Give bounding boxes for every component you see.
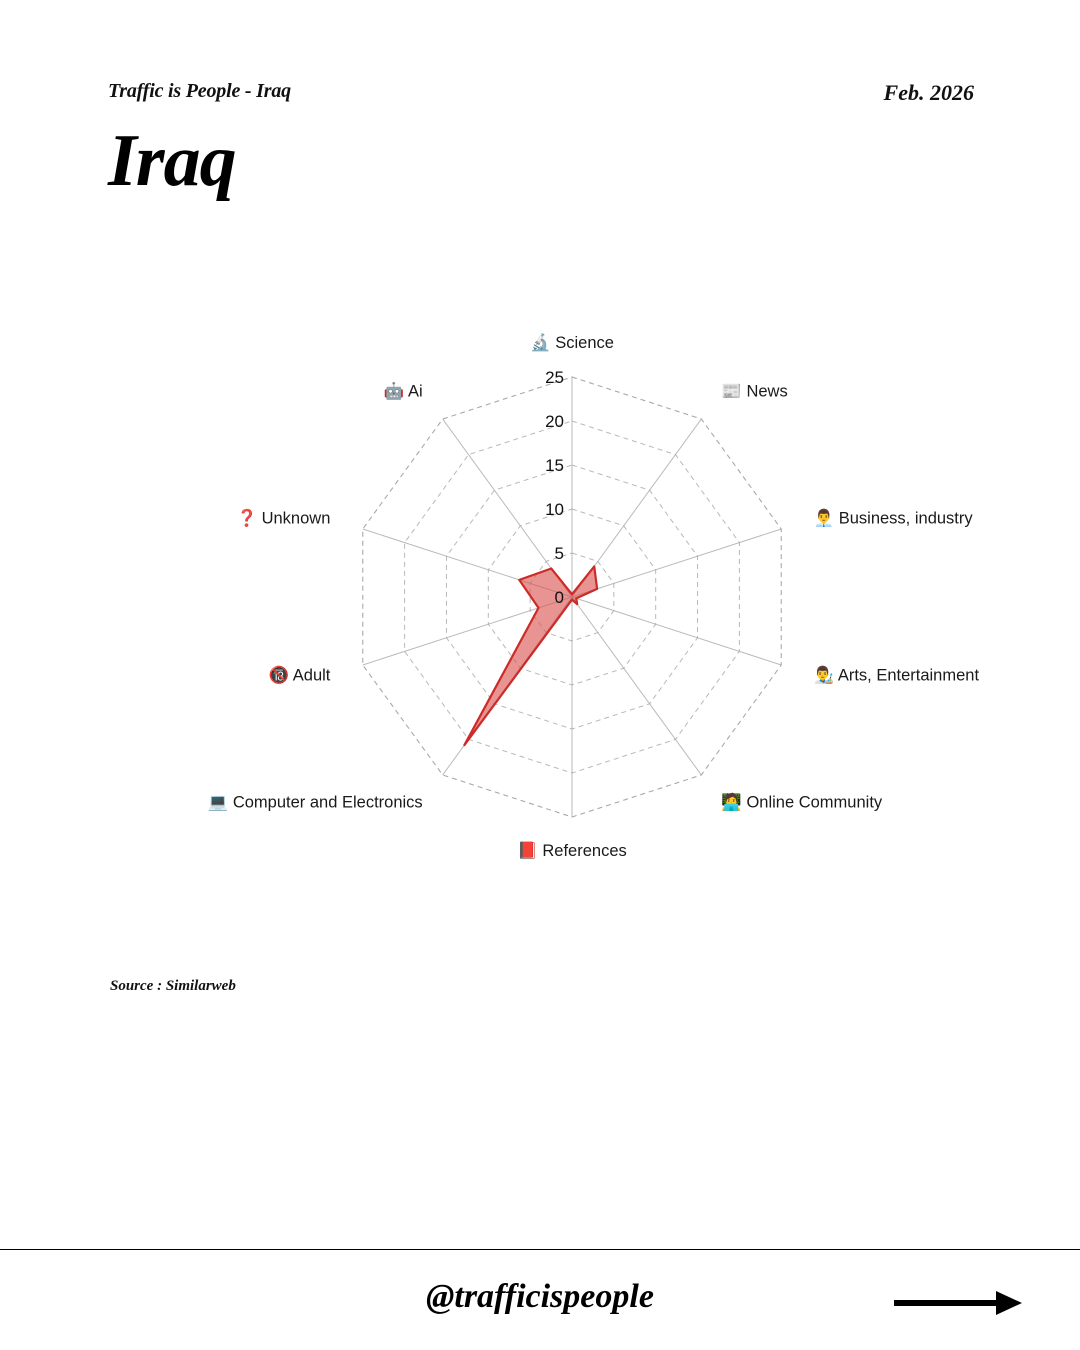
footer-divider: [0, 1249, 1080, 1250]
online-community-icon: 🧑‍💻: [721, 792, 746, 812]
radar-axis-label-text: Ai: [408, 383, 423, 401]
robot-icon: 🤖: [384, 382, 408, 401]
question-mark-icon: ❓: [236, 509, 261, 528]
radar-axis-label: 🔞 Adult: [269, 666, 331, 685]
radar-axis-spoke: [572, 597, 781, 665]
radar-axis-label-text: Unknown: [262, 510, 331, 528]
svg-text:📕 References: 📕 References: [517, 841, 627, 860]
radial-tick-label: 15: [545, 456, 564, 475]
svg-text:🧑‍💻 Online Community: 🧑‍💻 Online Community: [721, 792, 883, 812]
svg-text:🤖 Ai: 🤖 Ai: [384, 382, 423, 401]
arrow-right-icon[interactable]: [892, 1286, 1022, 1320]
closed-book-icon: 📕: [517, 841, 542, 860]
artist-icon: 👨‍🎨: [814, 666, 838, 685]
page-date: Feb. 2026: [884, 80, 974, 106]
radar-axis-label-text: Computer and Electronics: [233, 794, 423, 812]
radar-data-polygon: [464, 566, 597, 745]
radial-tick-label: 20: [545, 412, 564, 431]
svg-text:💻 Computer and Electronics: 💻 Computer and Electronics: [208, 794, 423, 812]
radar-axis-label: 👨‍💼 Business, industry: [814, 509, 974, 528]
radar-chart-svg: 0510152025🔬 Science📰 News👨‍💼 Business, i…: [0, 300, 1080, 900]
radar-axis-label: 💻 Computer and Electronics: [208, 794, 423, 812]
radar-axis-label-text: References: [542, 842, 626, 860]
radar-axis-label-text: Adult: [293, 667, 331, 685]
svg-text:❓ Unknown: ❓ Unknown: [236, 509, 330, 528]
microscope-icon: 🔬: [530, 332, 555, 352]
newspaper-icon: 📰: [721, 383, 746, 401]
radar-axis-label-text: Online Community: [746, 794, 882, 812]
radar-axis-label: 🔬 Science: [530, 332, 614, 352]
page-title: Iraq: [108, 124, 236, 198]
svg-text:📰 News: 📰 News: [721, 383, 787, 401]
radar-axis-spoke: [572, 529, 781, 597]
radar-chart: 0510152025🔬 Science📰 News👨‍💼 Business, i…: [0, 300, 1080, 900]
laptop-icon: 💻: [208, 794, 233, 812]
radar-axis-label: 🤖 Ai: [384, 382, 423, 401]
radar-axis-label: 👨‍🎨 Arts, Entertainment: [814, 666, 980, 685]
radial-tick-label: 0: [555, 588, 564, 607]
radar-axis-label: 📕 References: [517, 841, 627, 860]
radar-axis-label: 🧑‍💻 Online Community: [721, 792, 883, 812]
radial-tick-label: 5: [555, 544, 564, 563]
svg-text:🔞 Adult: 🔞 Adult: [269, 666, 331, 685]
office-worker-icon: 👨‍💼: [814, 509, 839, 528]
svg-text:👨‍🎨 Arts, Entertainment: 👨‍🎨 Arts, Entertainment: [814, 666, 980, 685]
radial-tick-label: 25: [545, 368, 564, 387]
radar-axis-label: ❓ Unknown: [236, 509, 330, 528]
radar-axis-label-text: Arts, Entertainment: [838, 667, 980, 685]
source-note: Source : Similarweb: [110, 978, 236, 995]
radar-axis-spoke: [572, 597, 701, 775]
svg-text:👨‍💼 Business, industry: 👨‍💼 Business, industry: [814, 509, 974, 528]
radar-axis-label-text: News: [746, 383, 787, 401]
adult-eighteen-icon: 🔞: [269, 666, 293, 685]
radial-tick-label: 10: [545, 500, 564, 519]
page-kicker: Traffic is People - Iraq: [108, 80, 291, 103]
radar-axis-label-text: Business, industry: [839, 510, 974, 528]
radar-axis-label-text: Science: [555, 334, 614, 352]
svg-text:🔬 Science: 🔬 Science: [530, 332, 614, 352]
radar-axis-label: 📰 News: [721, 383, 787, 401]
